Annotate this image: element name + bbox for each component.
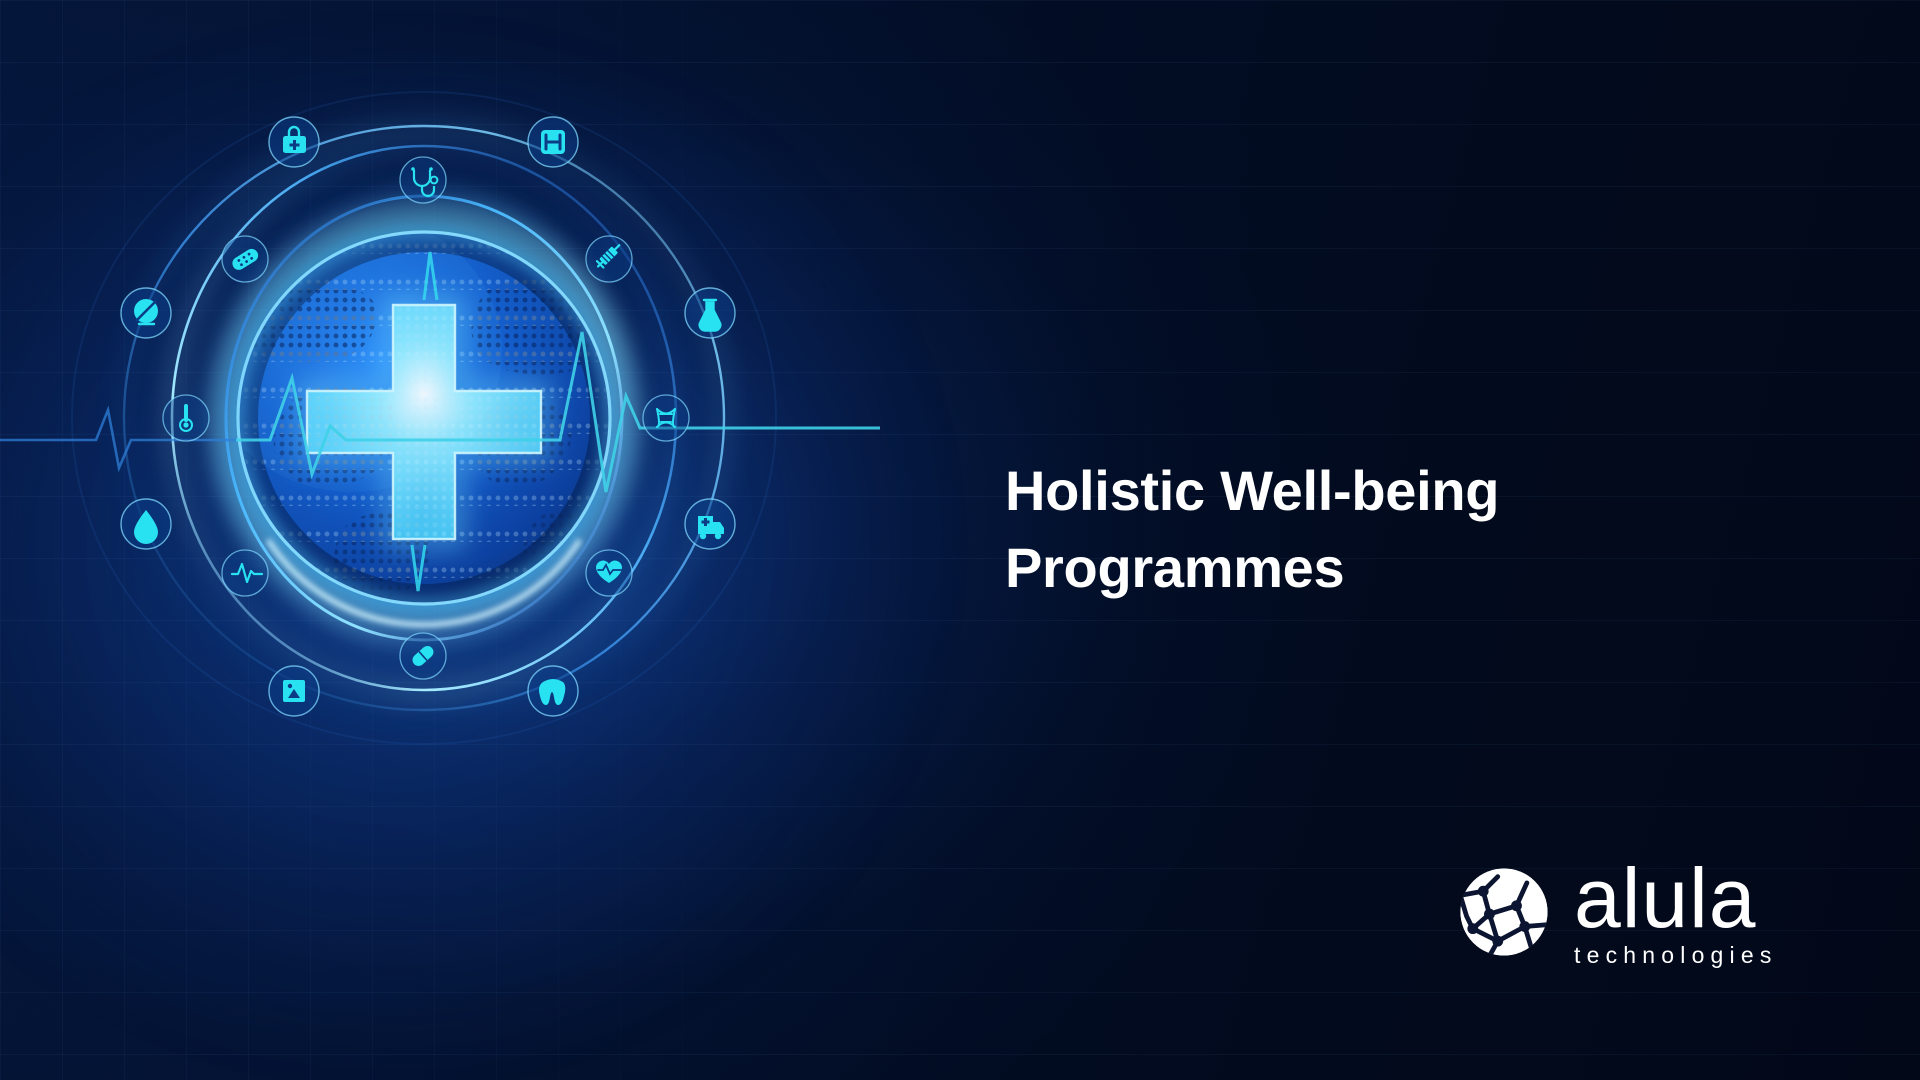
page-title-line-1: Holistic Well-being (1005, 452, 1765, 529)
brand-wordmark: alula technologies (1574, 856, 1781, 967)
blood-drop-icon[interactable] (121, 499, 171, 549)
medical-globe-hero-graphic (0, 0, 880, 1080)
stethoscope-icon[interactable] (400, 157, 446, 203)
heart-pulse-icon[interactable] (586, 550, 632, 596)
hospital-sign-icon[interactable] (528, 117, 578, 167)
page-title: Holistic Well-being Programmes (1005, 452, 1765, 607)
page-title-line-2: Programmes (1005, 529, 1765, 606)
ecg-line-icon[interactable] (222, 550, 268, 596)
brand-tagline: technologies (1574, 944, 1781, 967)
brand-name: alula (1574, 856, 1781, 940)
lab-flask-icon[interactable] (685, 288, 735, 338)
hero-banner: Holistic Well-being Programmes (0, 0, 1920, 1080)
brand-logo[interactable]: alula technologies (1452, 856, 1781, 967)
xray-scan-icon[interactable] (269, 666, 319, 716)
capsule-pill-icon[interactable] (400, 633, 446, 679)
syringe-icon[interactable] (586, 236, 632, 282)
bandage-icon[interactable] (222, 236, 268, 282)
first-aid-bag-icon[interactable] (269, 117, 319, 167)
tooth-icon[interactable] (528, 666, 578, 716)
microscope-icon[interactable] (121, 288, 171, 338)
fragmented-sphere-mark-icon (1452, 860, 1556, 964)
dna-helix-icon[interactable] (643, 395, 689, 441)
ambulance-icon[interactable] (685, 499, 735, 549)
thermometer-icon[interactable] (163, 395, 209, 441)
